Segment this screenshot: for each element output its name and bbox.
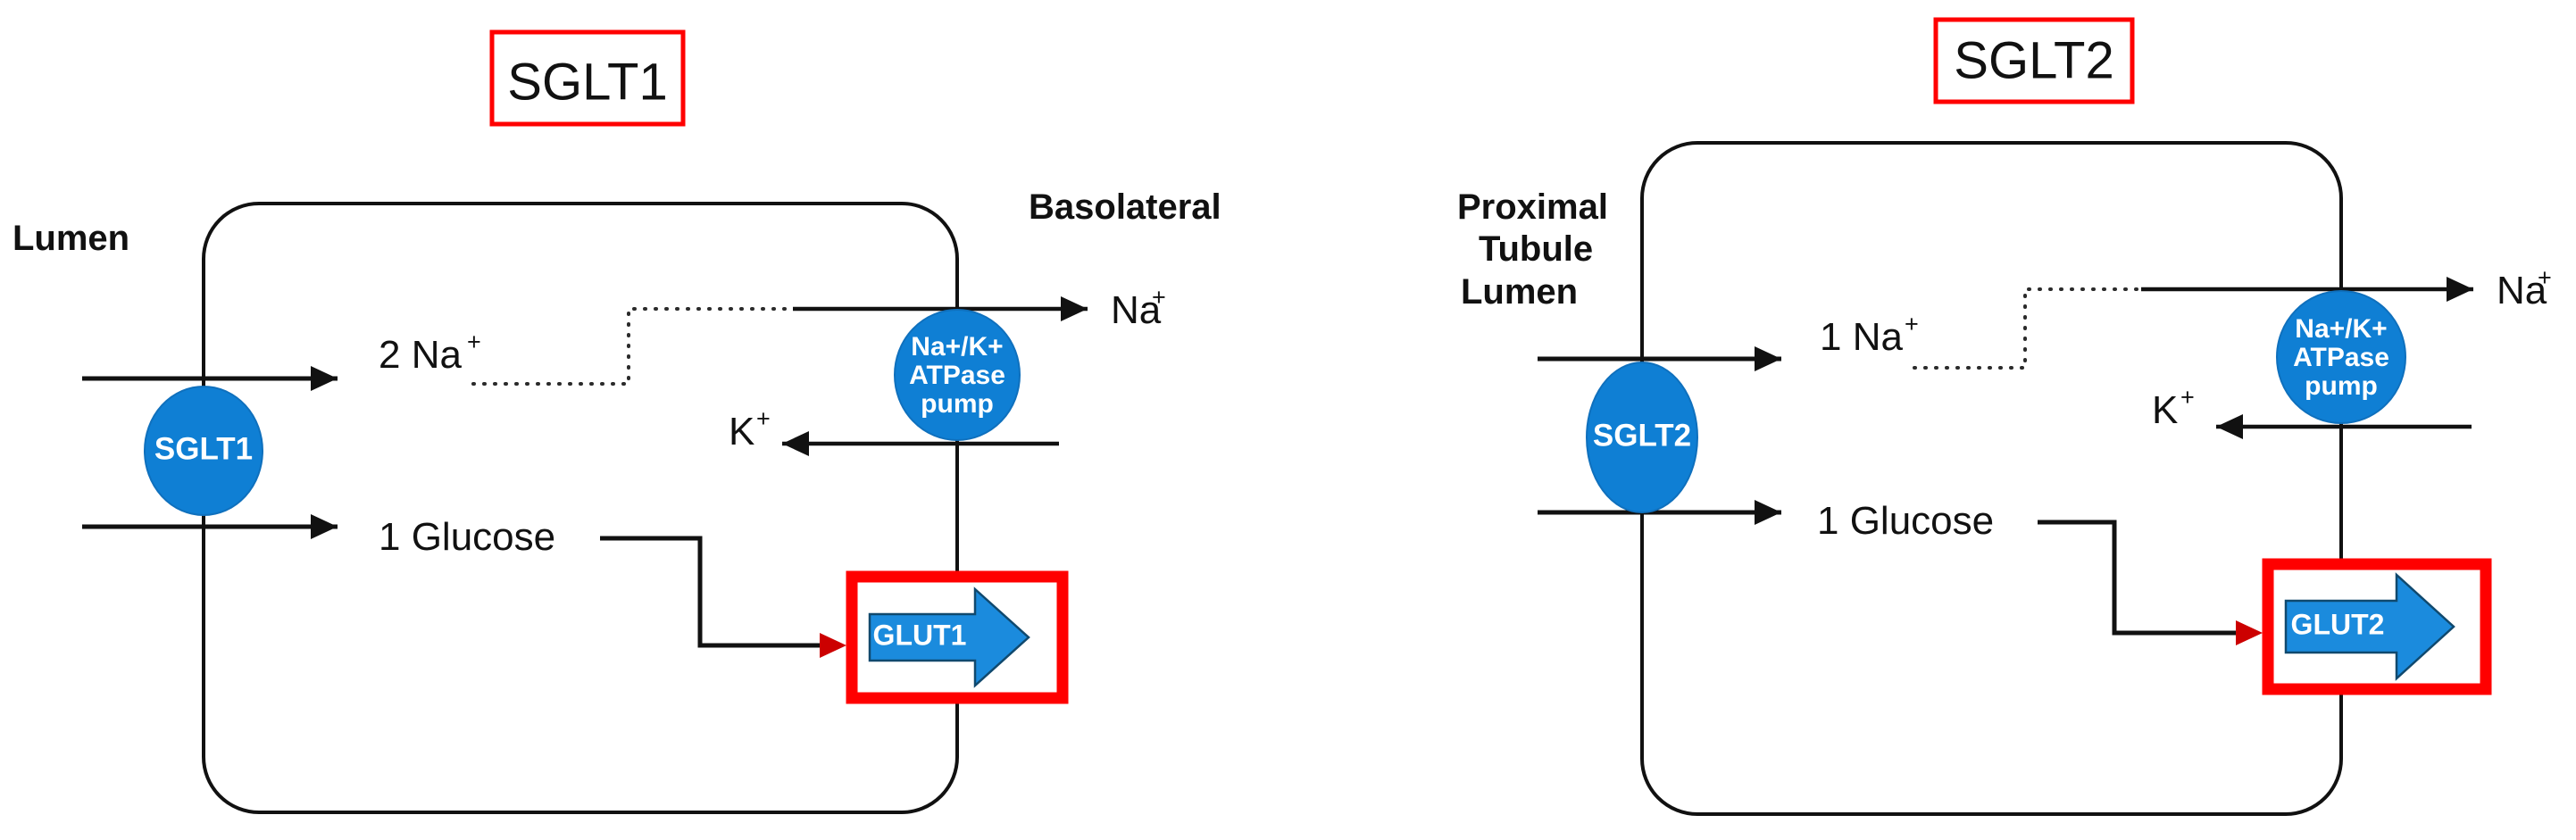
glucose2-count-label: 1 Glucose	[1817, 499, 1994, 543]
sglt1-title-label: SGLT1	[507, 53, 667, 111]
k2-influx-label: K	[2152, 388, 2178, 432]
na2-count-superscript: +	[1905, 311, 1919, 337]
glucose2-route-arrowhead	[2236, 620, 2263, 645]
glut1-label: GLUT1	[873, 619, 967, 651]
na-efflux-arrowhead	[1061, 296, 1088, 321]
na-efflux-superscript: +	[1152, 284, 1166, 311]
diagram-canvas: SGLT1 Lumen Basolateral SGLT1 2 Na + Na …	[0, 0, 2576, 840]
k-influx-superscript: +	[756, 405, 771, 432]
glucose2-route-line	[2038, 522, 2254, 633]
na2-influx-arrowhead	[1755, 346, 1781, 371]
pump-label-line1: Na+/K+	[911, 332, 1003, 362]
glucose-route-arrowhead	[820, 633, 846, 658]
k2-influx-arrowhead	[2216, 414, 2243, 439]
proximal-tubule-cell-outline	[1642, 143, 2341, 814]
glucose2-influx-arrowhead	[1755, 500, 1781, 525]
pump2-label-line3: pump	[2305, 371, 2378, 401]
proximal-tubule-lumen-label-line1: Proximal	[1457, 187, 1608, 227]
proximal-tubule-lumen-label-line2: Tubule	[1479, 229, 1593, 269]
lumen-label: Lumen	[13, 219, 129, 258]
pump-label-line2: ATPase	[909, 361, 1005, 390]
sglt1-panel: SGLT1 Lumen Basolateral SGLT1 2 Na + Na …	[13, 32, 1221, 812]
glucose-influx-arrowhead	[311, 514, 338, 539]
glucose-count-label: 1 Glucose	[379, 515, 555, 559]
sglt2-panel: SGLT2 Proximal Tubule Lumen SGLT2 1 Na +…	[1457, 20, 2552, 814]
k-influx-label: K	[729, 410, 754, 453]
na-influx-arrowhead	[311, 366, 338, 391]
na2-efflux-superscript: +	[2538, 264, 2552, 291]
na-count-superscript: +	[467, 329, 481, 355]
pump2-label-line2: ATPase	[2293, 343, 2389, 372]
pump-label-line3: pump	[921, 389, 994, 419]
na2-efflux-arrowhead	[2447, 277, 2473, 302]
sodium-gradient-dotted-path	[473, 309, 793, 384]
na2-count-label: 1 Na	[1820, 315, 1903, 359]
k2-influx-superscript: +	[2180, 384, 2195, 411]
pump2-label-line1: Na+/K+	[2295, 314, 2387, 344]
sglt2-transporter-label: SGLT2	[1593, 418, 1691, 453]
sodium-gradient-dotted-path-2	[1914, 289, 2141, 368]
glucose-route-line	[600, 538, 838, 645]
sglt1-transporter-label: SGLT1	[154, 431, 253, 466]
epithelial-cell-outline	[204, 204, 957, 812]
k-influx-arrowhead	[782, 431, 809, 456]
na-count-label: 2 Na	[379, 333, 462, 377]
proximal-tubule-lumen-label-line3: Lumen	[1461, 272, 1578, 312]
basolateral-label: Basolateral	[1029, 187, 1221, 227]
glut2-label: GLUT2	[2291, 608, 2385, 640]
sglt2-title-label: SGLT2	[1954, 31, 2113, 89]
